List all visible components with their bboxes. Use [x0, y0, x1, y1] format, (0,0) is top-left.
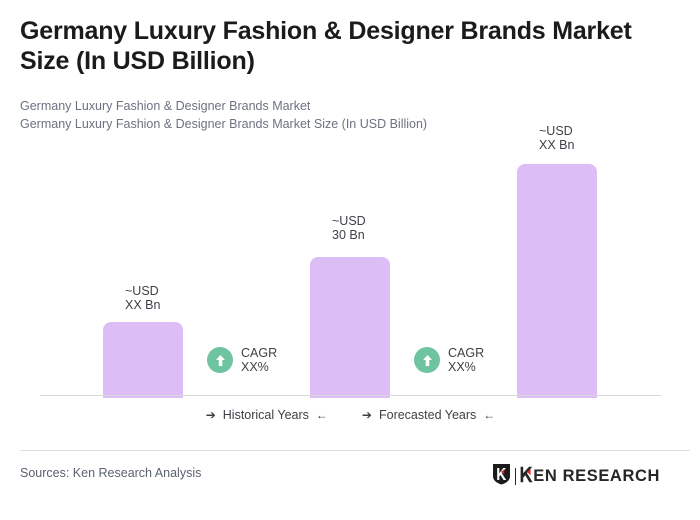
- ken-research-wordmark: EN RESEARCH: [520, 466, 660, 487]
- cagr-badge-2[interactable]: CAGRXX%: [414, 346, 484, 374]
- bar-label-3-line1: ~USD: [539, 124, 573, 138]
- period-forecasted: ➔ Forecasted Years ←: [362, 408, 495, 422]
- ken-research-shield-icon: [492, 463, 511, 490]
- arrow-up-icon: [207, 347, 233, 373]
- period-legend: ➔ Historical Years ← ➔ Forecasted Years …: [40, 408, 661, 422]
- cagr-badge-1-text: CAGRXX%: [241, 346, 277, 374]
- arrow-right-icon: ➔: [362, 409, 372, 421]
- bar-label-1-line1: ~USD: [125, 284, 159, 298]
- period-historical-label: Historical Years: [223, 408, 309, 422]
- cagr-2-line2: XX%: [448, 360, 476, 374]
- bar-label-2-line1: ~USD: [332, 214, 366, 228]
- arrow-up-icon: [414, 347, 440, 373]
- sources-text: Sources: Ken Research Analysis: [20, 466, 201, 480]
- bar-chart-plot: ~USDXX Bn CAGRXX% ~USD30 Bn CAGRXX% ~USD: [0, 0, 700, 400]
- cagr-badge-1[interactable]: CAGRXX%: [207, 346, 277, 374]
- logo-wordmark-text: EN RESEARCH: [533, 468, 660, 485]
- bar-label-2-line2: 30 Bn: [332, 228, 365, 242]
- arrow-left-icon: ←: [483, 409, 495, 421]
- arrow-right-icon: ➔: [206, 409, 216, 421]
- ken-research-logo: EN RESEARCH: [492, 463, 660, 490]
- bar-value-label-3: ~USDXX Bn: [539, 124, 574, 152]
- cagr-1-line1: CAGR: [241, 346, 277, 360]
- bar-value-label-2: ~USD30 Bn: [332, 214, 366, 242]
- bar-1[interactable]: [103, 322, 183, 398]
- bar-label-1-line2: XX Bn: [125, 298, 160, 312]
- chart-page: Germany Luxury Fashion & Designer Brands…: [0, 0, 700, 520]
- bar-2[interactable]: [310, 257, 390, 398]
- bar-label-3-line2: XX Bn: [539, 138, 574, 152]
- axis-baseline: [40, 395, 661, 396]
- logo-k-glyph: [520, 466, 533, 487]
- logo-divider: [515, 468, 517, 485]
- footer-divider: [20, 450, 690, 451]
- cagr-1-line2: XX%: [241, 360, 269, 374]
- bar-value-label-1: ~USDXX Bn: [125, 284, 160, 312]
- arrow-left-icon: ←: [316, 409, 328, 421]
- period-forecasted-label: Forecasted Years: [379, 408, 476, 422]
- bar-3[interactable]: [517, 164, 597, 398]
- cagr-2-line1: CAGR: [448, 346, 484, 360]
- cagr-badge-2-text: CAGRXX%: [448, 346, 484, 374]
- period-historical: ➔ Historical Years ←: [206, 408, 328, 422]
